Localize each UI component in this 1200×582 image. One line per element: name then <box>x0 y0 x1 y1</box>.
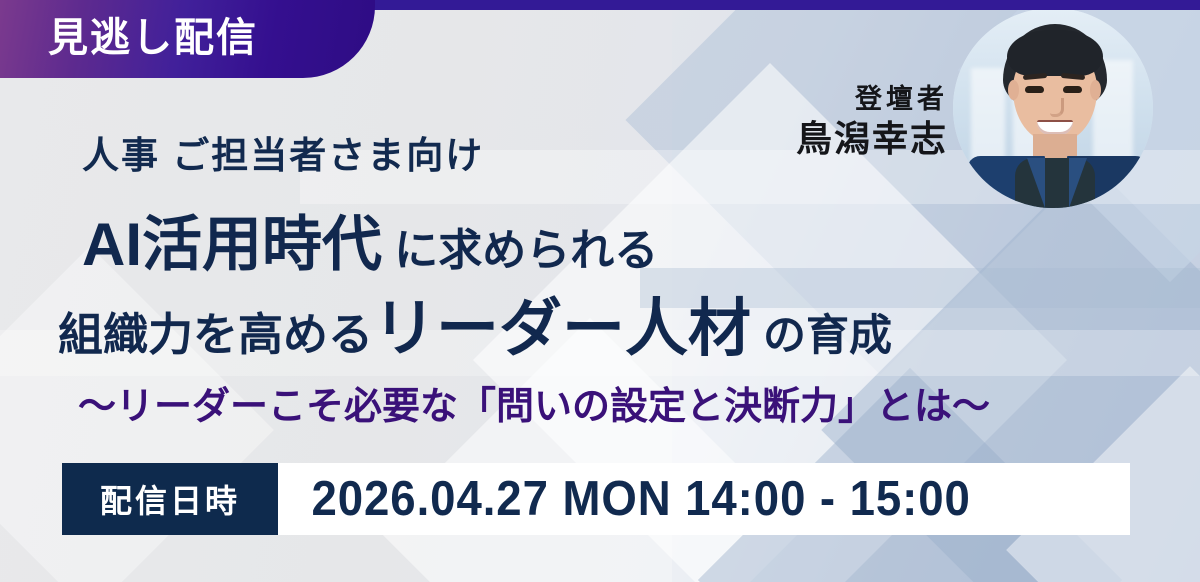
archive-badge-label: 見逃し配信 <box>48 18 258 60</box>
broadcast-date-value: 2026.04.27 MON 14:00 - 15:00 <box>278 463 1070 535</box>
portrait-nose <box>1050 98 1064 117</box>
portrait-hair-front <box>1007 30 1103 76</box>
headline-line-2-lead: 組織力を高める <box>58 309 373 360</box>
broadcast-date-bar: 配信日時 2026.04.27 MON 14:00 - 15:00 <box>62 463 1130 535</box>
portrait-ear-left <box>1008 80 1019 100</box>
archive-badge: 見逃し配信 <box>0 0 375 78</box>
portrait-eye-right <box>1063 86 1082 93</box>
speaker-portrait <box>953 8 1153 208</box>
portrait-lapel-left <box>1027 158 1045 208</box>
portrait-eye-left <box>1025 86 1044 93</box>
headline-line-2: 組織力を高めるリーダー人材 の育成 <box>58 278 892 369</box>
headline-line-1-emphasis: AI活用時代 <box>82 211 382 278</box>
speaker-info: 登壇者 鳥潟幸志 <box>796 84 948 160</box>
headline-line-1: AI活用時代 に求められる <box>82 196 658 283</box>
webinar-banner: 見逃し配信 登壇者 鳥潟幸志 人事 ご担当者さま向け AI活用時代 に求められる <box>0 0 1200 582</box>
headline-line-2-tail: の育成 <box>751 312 892 360</box>
headline-kicker: 人事 ご担当者さま向け <box>82 125 484 179</box>
speaker-name: 鳥潟幸志 <box>796 117 948 160</box>
speaker-role-label: 登壇者 <box>796 84 948 115</box>
headline-line-2-emphasis: リーダー人材 <box>373 294 751 364</box>
portrait-lapel-right <box>1069 158 1087 208</box>
headline-tagline: 〜リーダーこそ必要な「問いの設定と決断力」とは〜 <box>78 375 990 430</box>
portrait-ear-right <box>1090 80 1101 100</box>
headline-line-1-rest: に求められる <box>382 226 658 275</box>
broadcast-date-label: 配信日時 <box>62 463 278 535</box>
